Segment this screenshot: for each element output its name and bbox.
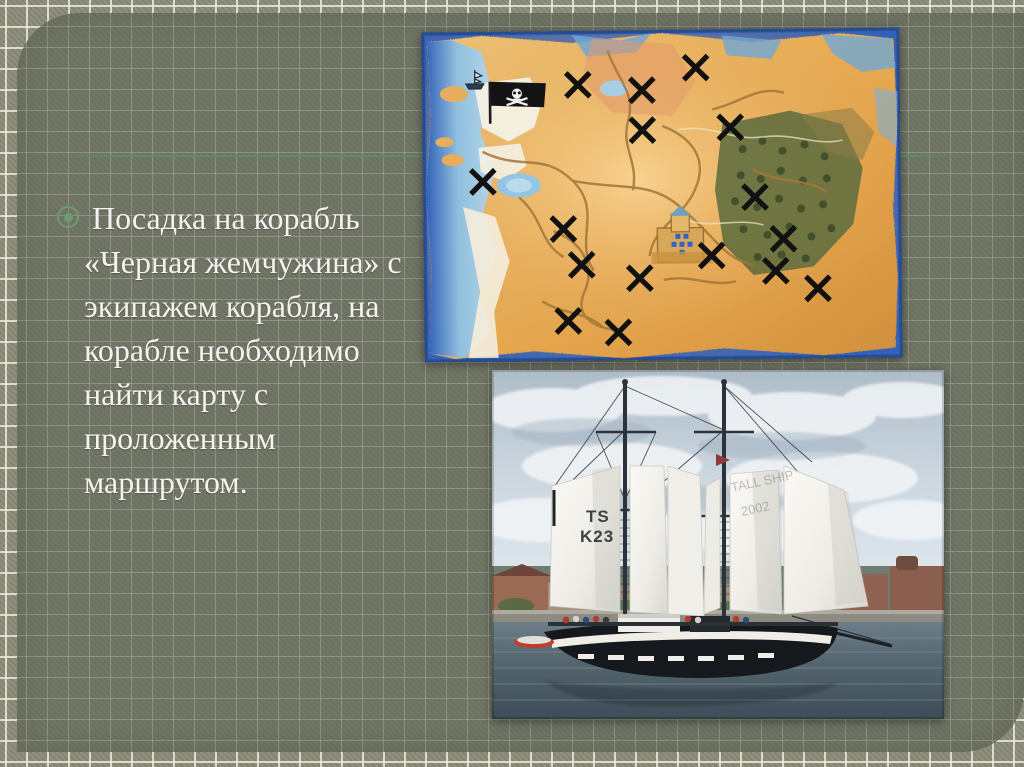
treasure-map-image: [421, 28, 902, 363]
slide-root: Посадка на корабль «Черная жемчужина» с …: [0, 0, 1024, 767]
bullet-text: Посадка на корабль «Черная жемчужина» с …: [84, 196, 417, 504]
ring-dot-bullet-icon: [57, 206, 79, 228]
tall-ship-graphic: TS K23 TALL SHIP 2002: [492, 370, 944, 719]
treasure-map-graphic: [421, 28, 902, 363]
tall-ship-image: TS K23 TALL SHIP 2002: [492, 370, 944, 719]
bullet-list-item: Посадка на корабль «Черная жемчужина» с …: [57, 196, 417, 504]
